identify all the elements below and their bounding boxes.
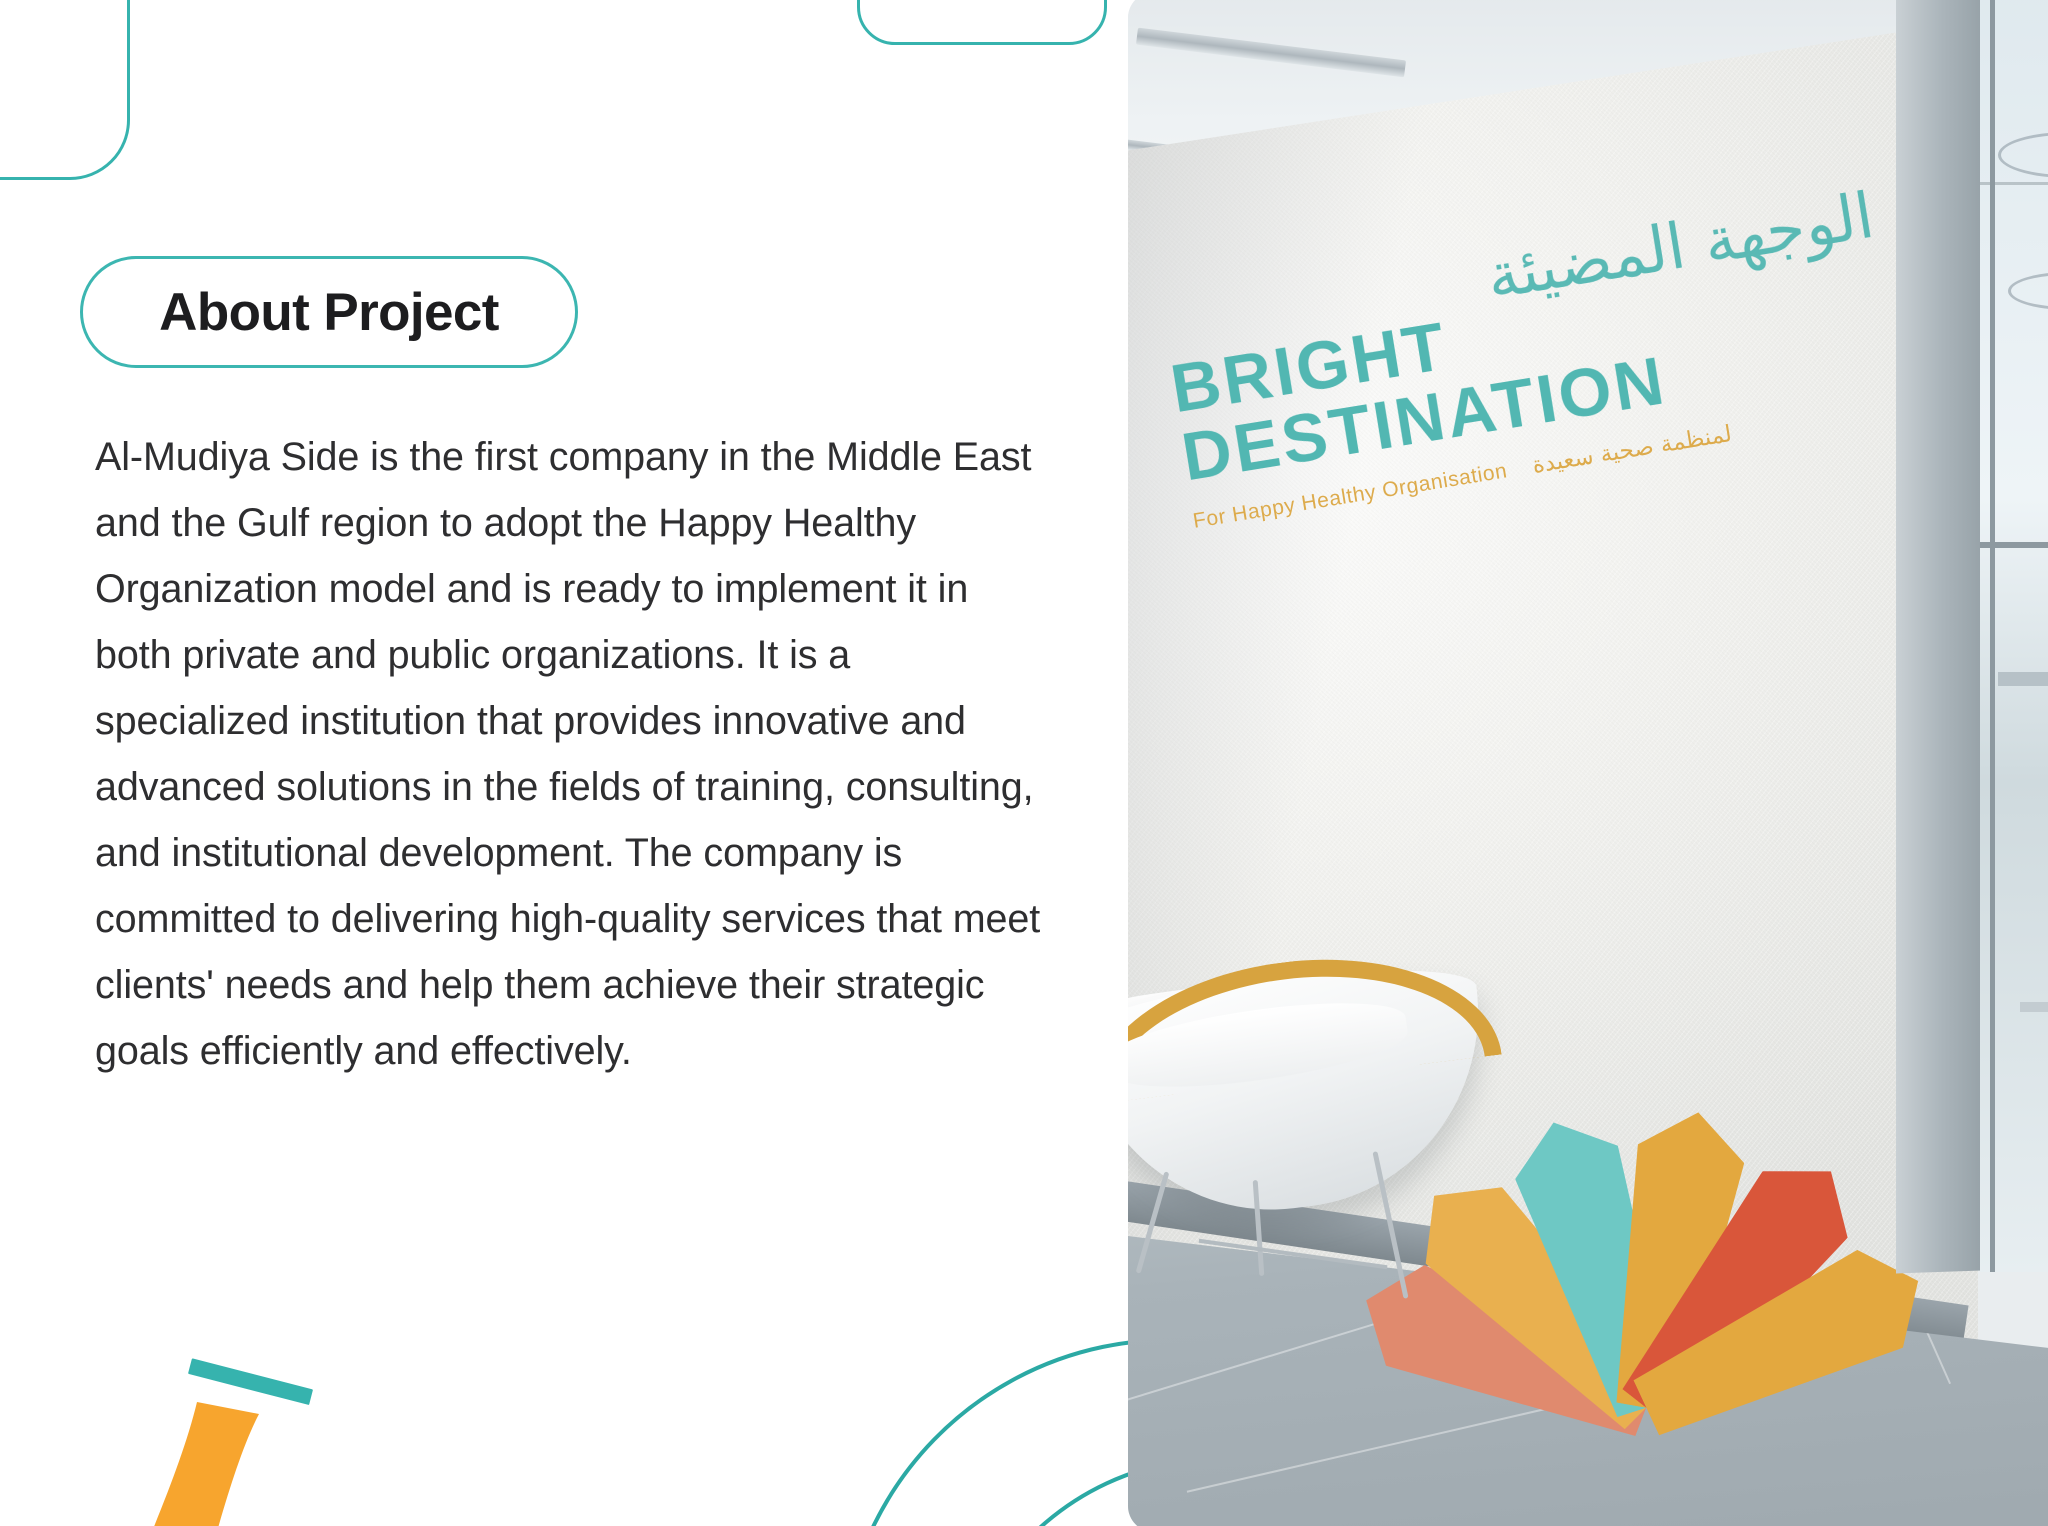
project-photo-panel: الوجهة المضيئة BRIGHT DESTINATION For Ha… — [1128, 0, 2048, 1526]
page-title: About Project — [159, 286, 499, 339]
lounge-chair — [1128, 952, 1518, 1282]
decorative-orange-swoosh — [145, 1400, 335, 1526]
background-desk — [1998, 672, 2048, 686]
decorative-teal-dash — [188, 1358, 313, 1405]
chair-leg-brace — [1199, 1239, 1388, 1269]
mullion — [1980, 542, 2048, 548]
decorative-rounded-rect-top-center — [857, 0, 1107, 45]
background-desk — [2020, 1002, 2048, 1012]
wall-column-edge — [1896, 0, 1982, 1274]
chair-leg — [1136, 1171, 1170, 1273]
mullion — [1990, 0, 1995, 1272]
ceiling-ring-light — [1998, 132, 2048, 178]
ceiling-light-strip — [1136, 28, 1406, 78]
about-project-body-text: Al-Mudiya Side is the first company in t… — [95, 424, 1045, 1084]
mullion — [1980, 182, 2048, 185]
glass-partition — [1980, 0, 2048, 1272]
ceiling-ring-light — [2008, 272, 2048, 310]
about-project-slide: About Project Al-Mudiya Side is the firs… — [0, 0, 2048, 1526]
about-project-title-pill: About Project — [80, 256, 578, 368]
decorative-rounded-rect-top-left — [0, 0, 130, 180]
